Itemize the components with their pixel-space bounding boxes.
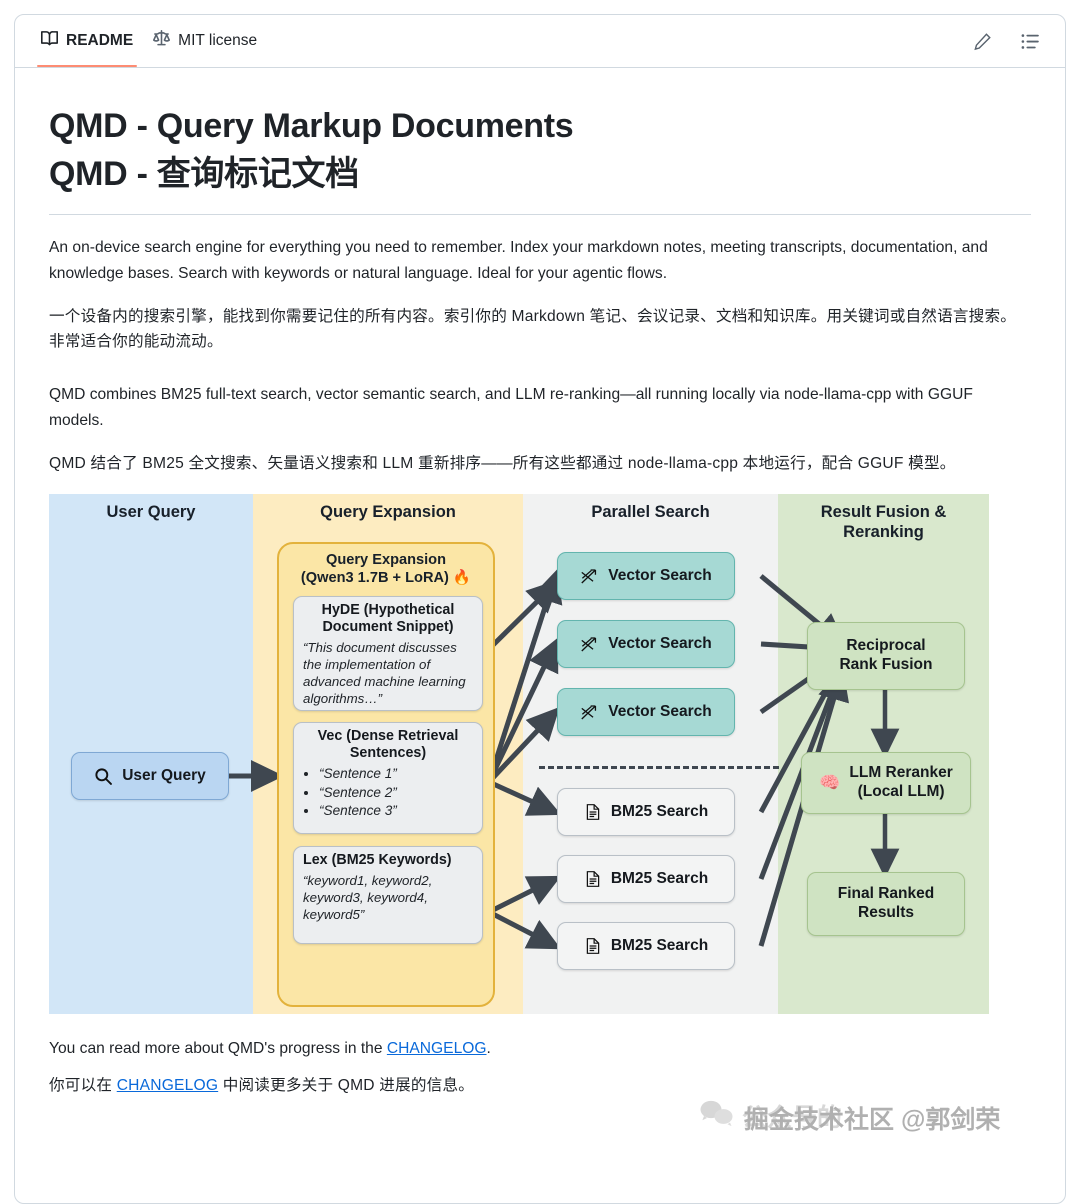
document-icon	[584, 937, 602, 955]
node-bm25-search-1[interactable]: BM25 Search	[557, 788, 735, 836]
magnifier-icon	[94, 767, 113, 786]
node-bm25-search-3[interactable]: BM25 Search	[557, 922, 735, 970]
column-title-query-expansion: Query Expansion	[253, 502, 523, 522]
node-final-ranked-results[interactable]: Final Ranked Results	[807, 872, 965, 936]
node-user-query-label: User Query	[122, 767, 206, 785]
intro-paragraph-zh: 一个设备内的搜索引擎，能找到你需要记住的所有内容。索引你的 Markdown 笔…	[49, 304, 1031, 355]
card-vec-bullet: “Sentence 2”	[319, 784, 473, 802]
node-reciprocal-rank-fusion[interactable]: Reciprocal Rank Fusion	[807, 622, 965, 690]
page-title-zh: QMD - 查询标记文档	[49, 152, 1031, 196]
readme-card: README MIT license QMD - Query Markup Do…	[14, 14, 1066, 1204]
column-title-user-query: User Query	[49, 502, 253, 522]
card-hyde-title: HyDE (Hypothetical Document Snippet)	[303, 602, 473, 636]
card-lex-body: “keyword1, keyword2, keyword3, keyword4,…	[303, 872, 473, 923]
book-icon	[41, 30, 58, 52]
tab-readme-label: README	[66, 32, 133, 50]
node-bm25-search-label: BM25 Search	[611, 870, 708, 888]
column-title-result-fusion: Result Fusion & Reranking	[778, 502, 989, 542]
card-hyde[interactable]: HyDE (Hypothetical Document Snippet) “Th…	[293, 596, 483, 711]
node-vector-search-1[interactable]: Vector Search	[557, 552, 735, 600]
architecture-diagram: User Query Query Expansion Parallel Sear…	[49, 494, 989, 1014]
intro-paragraph-en: An on-device search engine for everythin…	[49, 235, 1031, 286]
document-icon	[584, 870, 602, 888]
node-user-query[interactable]: User Query	[71, 752, 229, 800]
changelog-zh-before: 你可以在	[49, 1077, 117, 1094]
tab-mit-license[interactable]: MIT license	[143, 15, 267, 67]
group-query-expansion: Query Expansion (Qwen3 1.7B + LoRA) 🔥 Hy…	[277, 542, 495, 1007]
scatter-chart-icon	[580, 703, 599, 722]
readme-content: QMD - Query Markup Documents QMD - 查询标记文…	[15, 68, 1065, 1099]
node-final-results-line2: Results	[858, 904, 914, 921]
changelog-paragraph-zh: 你可以在 CHANGELOG 中阅读更多关于 QMD 进展的信息。	[49, 1073, 1031, 1098]
changelog-paragraph-en: You can read more about QMD's progress i…	[49, 1036, 1031, 1061]
features-paragraph-en: QMD combines BM25 full-text search, vect…	[49, 382, 1031, 433]
card-vec[interactable]: Vec (Dense Retrieval Sentences) “Sentenc…	[293, 722, 483, 834]
changelog-en-before: You can read more about QMD's progress i…	[49, 1040, 387, 1057]
node-vector-search-2[interactable]: Vector Search	[557, 620, 735, 668]
outline-list-icon[interactable]	[1019, 30, 1041, 52]
card-vec-bullet: “Sentence 1”	[319, 765, 473, 783]
card-lex-title: Lex (BM25 Keywords)	[303, 852, 473, 869]
search-group-divider	[539, 766, 779, 769]
tab-active-underline	[37, 65, 137, 68]
brain-icon: 🧠	[819, 773, 840, 794]
group-query-expansion-title: Query Expansion (Qwen3 1.7B + LoRA) 🔥	[279, 552, 493, 587]
changelog-link-zh[interactable]: CHANGELOG	[117, 1077, 218, 1094]
node-rrf-line2: Rank Fusion	[839, 656, 932, 673]
header-actions	[971, 30, 1049, 52]
edit-pencil-icon[interactable]	[971, 30, 993, 52]
node-vector-search-label: Vector Search	[608, 703, 711, 721]
column-title-parallel-search: Parallel Search	[523, 502, 778, 522]
node-rrf-line1: Reciprocal	[846, 637, 925, 654]
scatter-chart-icon	[580, 567, 599, 586]
card-hyde-body: “This document discusses the implementat…	[303, 639, 473, 707]
node-final-results-line1: Final Ranked	[838, 885, 934, 902]
changelog-zh-after: 中阅读更多关于 QMD 进展的信息。	[218, 1077, 474, 1094]
card-lex[interactable]: Lex (BM25 Keywords) “keyword1, keyword2,…	[293, 846, 483, 944]
scatter-chart-icon	[580, 635, 599, 654]
column-title-result-fusion-line1: Result Fusion &	[821, 503, 947, 521]
file-tabbar: README MIT license	[15, 15, 1065, 68]
column-title-result-fusion-line2: Reranking	[843, 523, 924, 541]
changelog-link-en[interactable]: CHANGELOG	[387, 1040, 487, 1057]
node-llm-reranker[interactable]: 🧠 LLM Reranker (Local LLM)	[801, 752, 971, 814]
changelog-en-after: .	[487, 1040, 491, 1057]
node-final-results-label: Final Ranked Results	[838, 885, 934, 923]
page-title-en: QMD - Query Markup Documents	[49, 104, 1031, 148]
node-bm25-search-label: BM25 Search	[611, 937, 708, 955]
node-llm-reranker-line2: (Local LLM)	[858, 783, 945, 800]
node-rrf-label: Reciprocal Rank Fusion	[839, 637, 932, 675]
tab-readme[interactable]: README	[31, 15, 143, 67]
group-title-line1: Query Expansion	[326, 552, 446, 568]
node-vector-search-3[interactable]: Vector Search	[557, 688, 735, 736]
group-title-line2: (Qwen3 1.7B + LoRA) 🔥	[301, 570, 471, 586]
node-bm25-search-2[interactable]: BM25 Search	[557, 855, 735, 903]
card-vec-bullet: “Sentence 3”	[319, 802, 473, 820]
node-bm25-search-label: BM25 Search	[611, 803, 708, 821]
features-paragraph-zh: QMD 结合了 BM25 全文搜索、矢量语义搜索和 LLM 重新排序——所有这些…	[49, 451, 1031, 476]
node-llm-reranker-label: LLM Reranker (Local LLM)	[849, 764, 952, 802]
tab-mit-license-label: MIT license	[178, 32, 257, 50]
card-hyde-title-line1: HyDE (Hypothetical	[322, 602, 455, 618]
card-hyde-title-line2: Document Snippet)	[322, 619, 453, 635]
card-vec-title-line2: Sentences)	[350, 745, 426, 761]
title-divider	[49, 214, 1031, 215]
node-vector-search-label: Vector Search	[608, 567, 711, 585]
node-llm-reranker-line1: LLM Reranker	[849, 764, 952, 781]
document-icon	[584, 803, 602, 821]
node-vector-search-label: Vector Search	[608, 635, 711, 653]
scale-icon	[153, 30, 170, 52]
card-vec-title-line1: Vec (Dense Retrieval	[318, 728, 459, 744]
card-vec-bullets: “Sentence 1” “Sentence 2” “Sentence 3”	[303, 765, 473, 819]
card-vec-title: Vec (Dense Retrieval Sentences)	[303, 728, 473, 762]
